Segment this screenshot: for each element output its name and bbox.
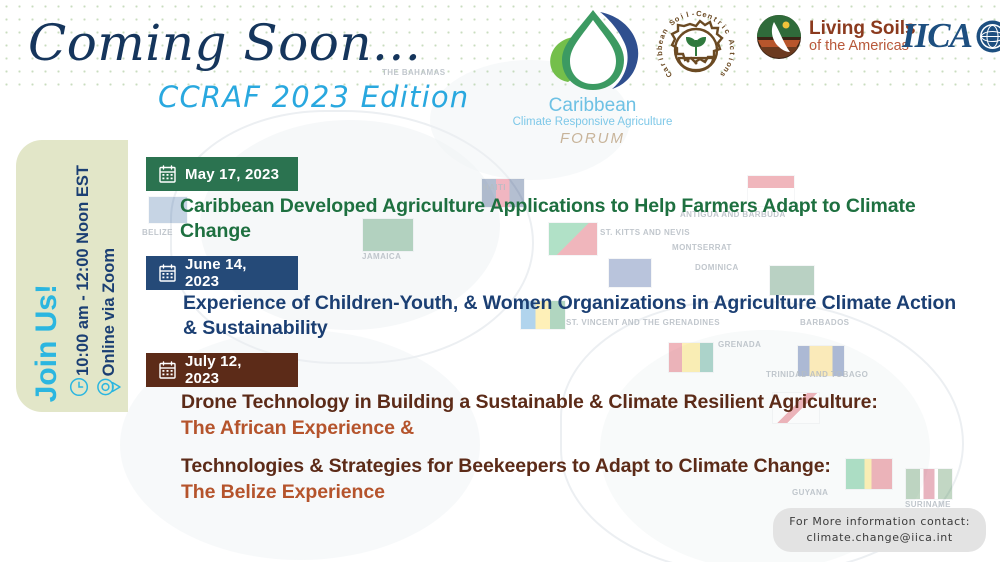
session-title-july-drone: Drone Technology in Building a Sustainab…: [181, 390, 981, 415]
join-us-panel: Join Us! 10:00 am - 12:00 Noon EST Onlin…: [16, 140, 128, 412]
date-badge-may: May 17, 2023: [146, 157, 298, 191]
date-badge-june: June 14, 2023: [146, 256, 298, 290]
poster-root: THE BAHAMAS HAITI BELIZE JAMAICA ST. KIT…: [0, 0, 1000, 562]
flag-label: JAMAICA: [362, 252, 401, 261]
contact-email: climate.change@iica.int: [789, 530, 970, 546]
clock-icon: [69, 377, 89, 402]
living-soils-line1: Living Soils: [809, 19, 916, 38]
csca-circular-text: Caribbean Soil-Centric Actions: [652, 6, 740, 94]
living-soils-of-the-americas-logo: Living Soils of the Americas: [756, 14, 916, 60]
living-soils-line2: of the Americas: [809, 38, 916, 55]
iica-logo: IICA: [902, 16, 1000, 56]
contact-pill: For More information contact: climate.ch…: [773, 508, 986, 552]
caribbean-soil-centric-actions-logo: Caribbean Soil-Centric Actions: [652, 6, 740, 94]
date-badge-july: July 12, 2023: [146, 353, 298, 387]
logo-row: Caribbean Climate Responsive Agriculture…: [500, 0, 1000, 150]
iica-globe-icon: [976, 20, 1000, 53]
date-badge-label: July 12, 2023: [185, 353, 280, 387]
ccraf-line2: Climate Responsive Agriculture: [505, 116, 680, 129]
edition-subtitle: CCRAF 2023 Edition: [158, 80, 469, 114]
video-camera-icon: [96, 377, 122, 402]
date-badge-label: June 14, 2023: [185, 256, 280, 290]
flag-label: HAITI: [483, 183, 506, 192]
ccraf-droplet-icon: [538, 4, 648, 96]
session-subtitle-belize-experience: The Belize Experience: [181, 480, 981, 505]
flag-label: TRINIDAD AND TOBAGO: [766, 370, 868, 379]
date-badge-label: May 17, 2023: [185, 166, 279, 183]
session-subtitle-african-experience: The African Experience &: [181, 416, 981, 441]
join-us-title: Join Us!: [30, 284, 64, 402]
flag-montserrat: [608, 258, 652, 288]
session-title-july-beekeepers: Technologies & Strategies for Beekeepers…: [181, 454, 981, 479]
contact-line1: For More information contact:: [789, 514, 970, 530]
flag-label: MONTSERRAT: [672, 243, 732, 252]
page-title: Coming Soon...: [28, 14, 421, 72]
flag-label: BELIZE: [142, 228, 173, 237]
iica-wordmark: IICA: [902, 16, 972, 56]
join-us-time: 10:00 am - 12:00 Noon EST: [74, 165, 93, 376]
session-title-june: Experience of Children-Youth, & Women Or…: [183, 291, 973, 341]
living-soils-globe-icon: [756, 14, 802, 60]
ccraf-line3: FORUM: [505, 130, 680, 147]
flag-grenada: [668, 342, 714, 373]
flag-label: GRENADA: [718, 340, 761, 349]
flag-label: DOMINICA: [695, 263, 739, 272]
calendar-icon: [159, 361, 176, 379]
join-us-mode: Online via Zoom: [100, 248, 119, 376]
calendar-icon: [159, 165, 176, 183]
calendar-icon: [159, 264, 176, 282]
session-title-may: Caribbean Developed Agriculture Applicat…: [180, 194, 980, 244]
ccraf-line1: Caribbean: [505, 96, 680, 116]
